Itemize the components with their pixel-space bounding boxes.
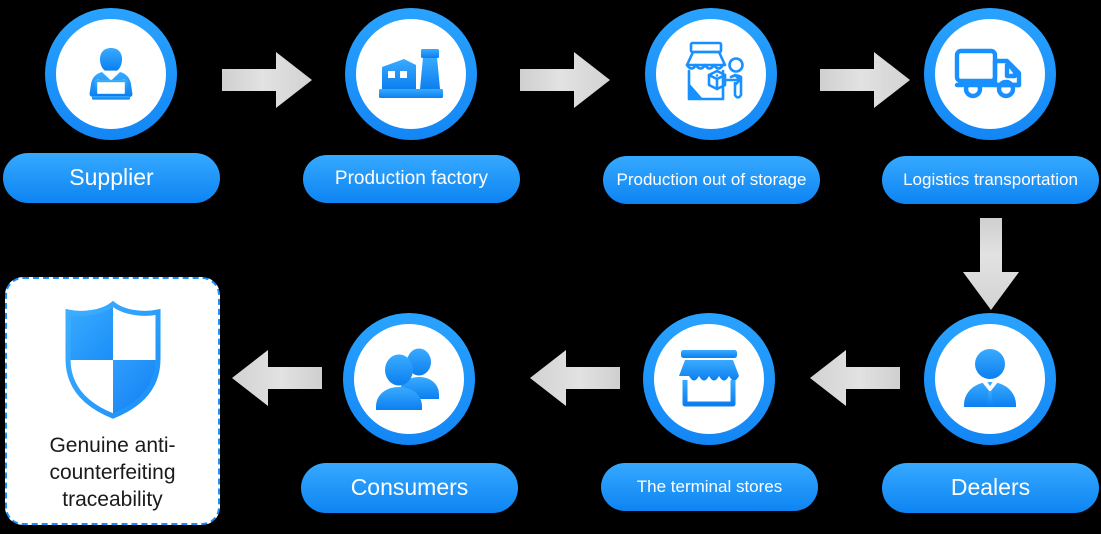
production-out-of-storage-label: Production out of storage — [603, 156, 820, 204]
businessman-icon — [953, 344, 1027, 414]
node-production-out-of-storage[interactable]: Production out of storage — [600, 0, 822, 210]
logistics-transportation-label: Logistics transportation — [882, 156, 1099, 204]
arrow-factory-to-outstorage — [520, 52, 610, 108]
supplier-label: Supplier — [3, 153, 220, 203]
node-production-factory[interactable]: Production factory — [300, 0, 522, 210]
factory-icon — [374, 37, 448, 111]
arrow-supplier-to-factory — [222, 52, 312, 108]
result-card-genuine-traceability[interactable]: Genuine anti-counterfeiting traceability — [5, 277, 220, 525]
production-factory-label: Production factory — [303, 155, 520, 203]
production-out-of-storage-circle — [645, 8, 777, 140]
node-the-terminal-stores[interactable]: The terminal stores — [598, 305, 820, 517]
production-factory-circle — [345, 8, 477, 140]
node-supplier[interactable]: Supplier — [0, 0, 222, 210]
warehouse-outbound-icon — [671, 37, 751, 111]
node-dealers[interactable]: Dealers — [879, 305, 1101, 517]
result-card-label: Genuine anti-counterfeiting traceability — [7, 433, 218, 514]
delivery-truck-icon — [951, 41, 1029, 107]
storefront-icon — [671, 344, 747, 414]
arrow-logistics-to-dealers — [963, 218, 1019, 310]
node-consumers[interactable]: Consumers — [298, 305, 520, 517]
node-logistics-transportation[interactable]: Logistics transportation — [879, 0, 1101, 210]
the-terminal-stores-label: The terminal stores — [601, 463, 818, 511]
supplier-circle — [45, 8, 177, 140]
consumers-circle — [343, 313, 475, 445]
supply-chain-diagram: Supplier — [0, 0, 1101, 534]
the-terminal-stores-circle — [643, 313, 775, 445]
consumers-label: Consumers — [301, 463, 518, 513]
shield-check-icon — [58, 301, 168, 419]
logistics-transportation-circle — [924, 8, 1056, 140]
dealers-label: Dealers — [882, 463, 1099, 513]
supplier-person-laptop-icon — [75, 38, 147, 110]
dealers-circle — [924, 313, 1056, 445]
two-people-icon — [371, 344, 447, 414]
